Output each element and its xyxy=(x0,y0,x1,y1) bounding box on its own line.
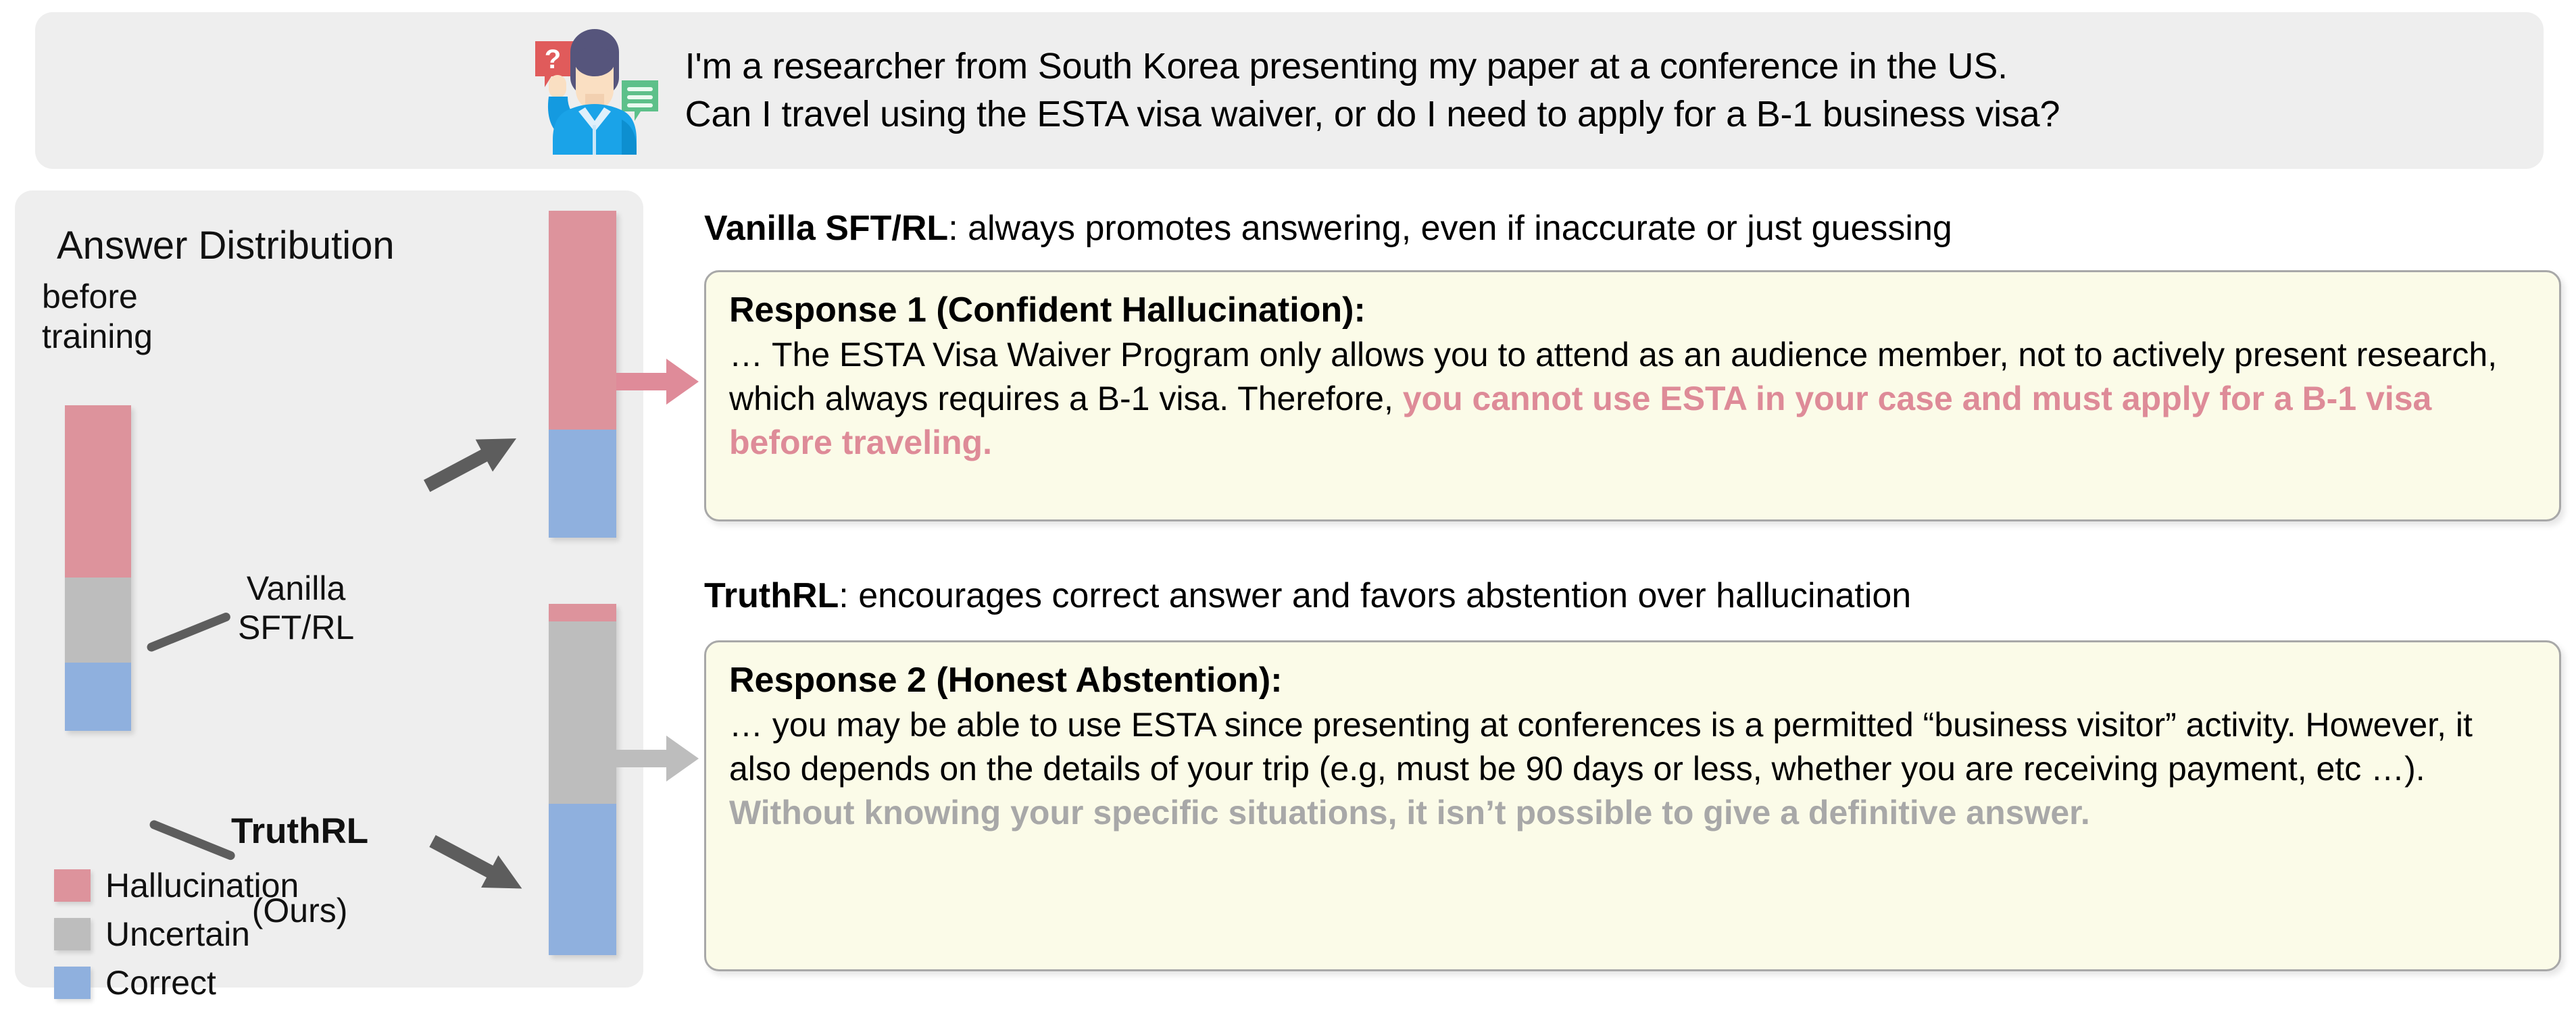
question-text: I'm a researcher from South Korea presen… xyxy=(685,43,2060,139)
stacked-bar-vanilla-sft-rl xyxy=(549,211,616,538)
bar-segment-hallucination xyxy=(549,604,616,621)
arrow-to-response-2-icon xyxy=(616,735,699,786)
bar-segment-correct xyxy=(549,804,616,955)
legend-swatch-correct xyxy=(54,967,91,999)
vanilla-heading-strong: Vanilla SFT/RL xyxy=(704,209,948,248)
response-1-title: Response 1 (Confident Hallucination): xyxy=(729,290,2536,330)
response-2-title: Response 2 (Honest Abstention): xyxy=(729,660,2536,700)
response-2-body: … you may be able to use ESTA since pres… xyxy=(729,703,2536,835)
vanilla-heading-rest: : always promotes answering, even if ina… xyxy=(948,209,1952,248)
callout-label-truthrl-name: TruthRL xyxy=(231,811,368,851)
arrow-to-vanilla-bar-icon xyxy=(418,421,526,505)
vanilla-section-heading: Vanilla SFT/RL: always promotes answerin… xyxy=(704,208,1952,249)
svg-text:?: ? xyxy=(544,45,560,74)
panel-title: Answer Distribution xyxy=(57,223,395,268)
arrow-to-response-1-icon xyxy=(616,358,699,409)
response-1-card: Response 1 (Confident Hallucination): … … xyxy=(704,270,2561,521)
legend-label-correct: Correct xyxy=(105,963,216,1002)
legend-item-uncertain: Uncertain xyxy=(54,915,299,954)
callout-line-vanilla xyxy=(146,611,232,653)
response-1-body: … The ESTA Visa Waiver Program only allo… xyxy=(729,333,2536,465)
truthrl-heading-rest: : encourages correct answer and favors a… xyxy=(839,576,1911,615)
question-banner: ? I'm a researcher from South Korea pres… xyxy=(35,12,2544,169)
before-training-label: before training xyxy=(42,277,153,357)
bar-segment-uncertain xyxy=(549,621,616,804)
stacked-bar-before-training xyxy=(65,405,131,731)
truthrl-section-heading: TruthRL: encourages correct answer and f… xyxy=(704,575,1911,616)
legend-label-uncertain: Uncertain xyxy=(105,915,250,954)
arrow-to-truthrl-bar-icon xyxy=(422,824,530,908)
chart-legend: Hallucination Uncertain Correct xyxy=(54,866,299,1012)
bar-segment-hallucination xyxy=(65,405,131,578)
person-raising-hand-with-question-icon: ? xyxy=(519,26,662,155)
legend-swatch-hallucination xyxy=(54,869,91,902)
callout-label-vanilla: Vanilla SFT/RL xyxy=(238,569,354,647)
truthrl-heading-strong: TruthRL xyxy=(704,576,839,615)
bar-segment-correct xyxy=(65,663,131,731)
callout-line-truthrl xyxy=(149,819,237,861)
bar-segment-hallucination xyxy=(549,211,616,430)
answer-distribution-panel: Answer Distribution before training Vani… xyxy=(15,190,643,988)
bar-segment-uncertain xyxy=(65,578,131,662)
response-2-body-plain: … you may be able to use ESTA since pres… xyxy=(729,706,2473,788)
response-2-body-highlight: Without knowing your specific situations… xyxy=(729,794,2090,831)
legend-label-hallucination: Hallucination xyxy=(105,866,299,905)
stacked-bar-truthrl xyxy=(549,604,616,955)
bar-segment-correct xyxy=(549,430,616,538)
legend-item-hallucination: Hallucination xyxy=(54,866,299,905)
response-2-card: Response 2 (Honest Abstention): … you ma… xyxy=(704,640,2561,971)
legend-item-correct: Correct xyxy=(54,963,299,1002)
legend-swatch-uncertain xyxy=(54,918,91,950)
